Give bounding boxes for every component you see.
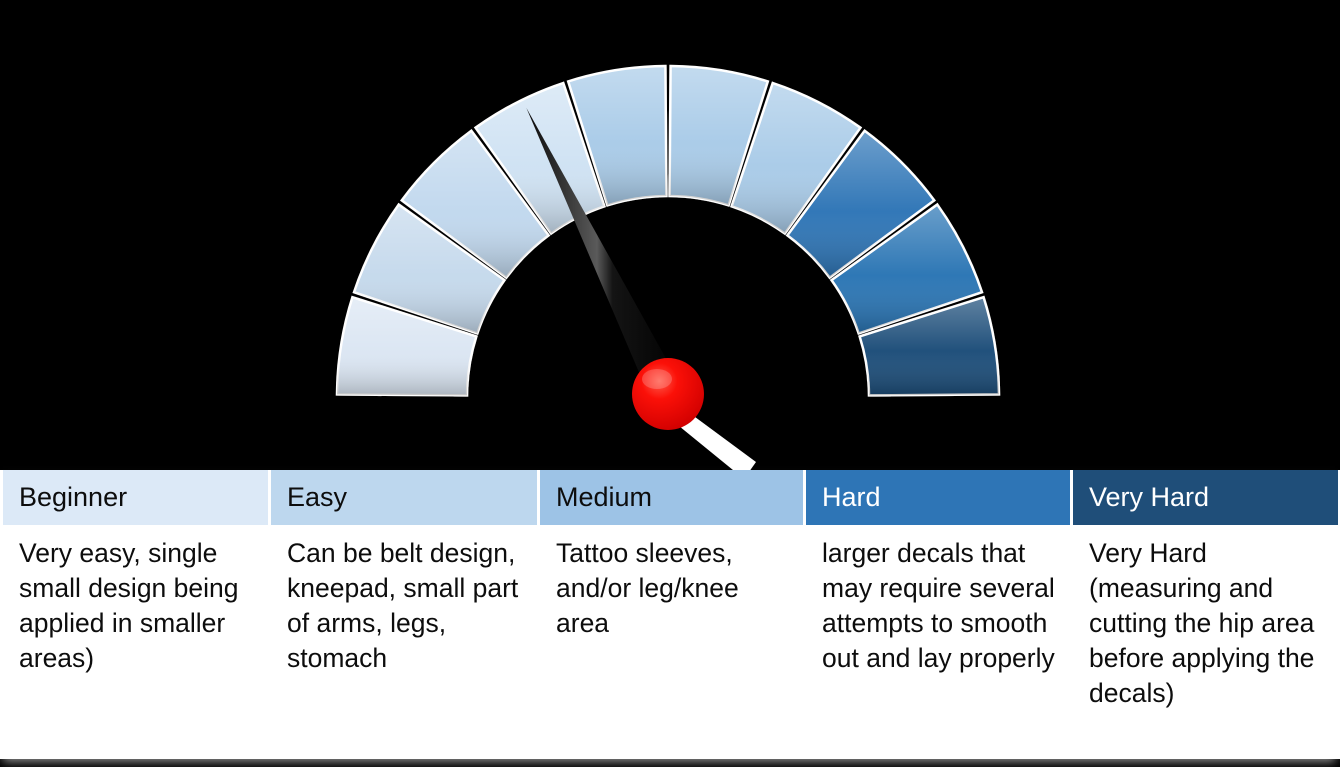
gauge-svg bbox=[0, 0, 1340, 470]
table-header-row: Beginner Easy Medium Hard Very Hard bbox=[2, 470, 1340, 527]
gauge-region bbox=[0, 0, 1340, 470]
cell-easy-description: Can be belt design, kneepad, small part … bbox=[270, 527, 539, 760]
difficulty-table-container: Beginner Easy Medium Hard Very Hard Very… bbox=[0, 470, 1338, 759]
slide-canvas: Beginner Easy Medium Hard Very Hard Very… bbox=[0, 0, 1340, 767]
cell-medium-description: Tattoo sleeves, and/or leg/knee area bbox=[539, 527, 805, 760]
header-cell-beginner[interactable]: Beginner bbox=[2, 470, 270, 527]
header-cell-very-hard[interactable]: Very Hard bbox=[1072, 470, 1340, 527]
hub-highlight bbox=[642, 369, 672, 389]
header-cell-hard[interactable]: Hard bbox=[805, 470, 1072, 527]
header-cell-medium[interactable]: Medium bbox=[539, 470, 805, 527]
cell-very-hard-description: Very Hard (measuring and cutting the hip… bbox=[1072, 527, 1340, 760]
gauge-hub[interactable] bbox=[632, 358, 704, 430]
table-row: Very easy, single small design being app… bbox=[2, 527, 1340, 760]
header-cell-easy[interactable]: Easy bbox=[270, 470, 539, 527]
cell-hard-description: larger decals that may require several a… bbox=[805, 527, 1072, 760]
difficulty-table: Beginner Easy Medium Hard Very Hard Very… bbox=[0, 470, 1340, 759]
cell-beginner-description: Very easy, single small design being app… bbox=[2, 527, 270, 760]
